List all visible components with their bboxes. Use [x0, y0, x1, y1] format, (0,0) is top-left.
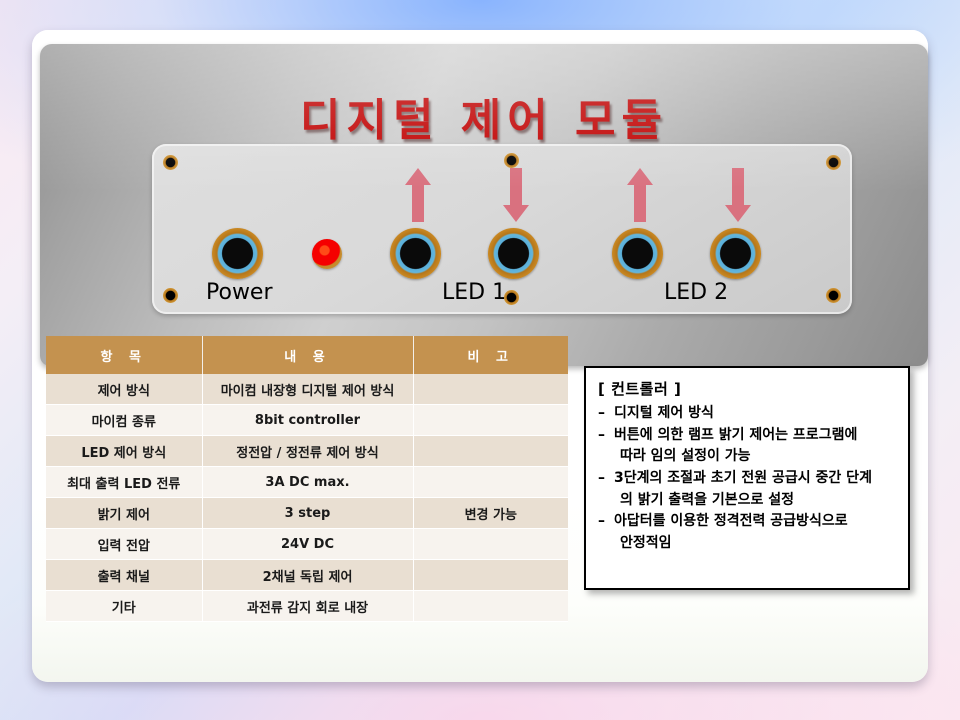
table-header-remark: 비 고 — [413, 336, 568, 374]
led2-label: LED 2 — [664, 280, 728, 305]
note-box-title: [ 컨트롤러 ] — [598, 378, 896, 399]
table-header-item: 항 목 — [46, 336, 202, 374]
note-list-item: – 아답터를 이용한 정격전력 공급방식으로 안정적임 — [598, 511, 896, 554]
cell-item: 제어 방식 — [46, 374, 202, 405]
spec-table: 항 목 내 용 비 고 제어 방식 마이컴 내장형 디지털 제어 방식 마이컴 … — [46, 336, 568, 622]
table-row: 밝기 제어 3 step 변경 가능 — [46, 498, 568, 529]
cell-content: 과전류 감지 회로 내장 — [202, 591, 413, 622]
table-row: 제어 방식 마이컴 내장형 디지털 제어 방식 — [46, 374, 568, 405]
screw-bottom-right — [826, 288, 841, 303]
note-list-item: – 버튼에 의한 램프 밝기 제어는 프로그램에 따라 임의 설정이 가능 — [598, 425, 896, 468]
led1-up-knob[interactable] — [390, 228, 441, 279]
dash-bullet: – — [598, 403, 614, 425]
cell-item: 기타 — [46, 591, 202, 622]
slide-backdrop: 디지털 제어 모듈 — [0, 0, 960, 720]
cell-remark — [413, 374, 568, 405]
note-line-1: 디지털 제어 방식 — [614, 405, 714, 421]
screw-bottom-center — [504, 290, 519, 305]
cell-content: 8bit controller — [202, 405, 413, 436]
cell-item: 밝기 제어 — [46, 498, 202, 529]
note-line-2: 따라 임의 설정이 가능 — [614, 446, 896, 468]
slide-card: 디지털 제어 모듈 — [32, 30, 928, 682]
note-line-1: 버튼에 의한 램프 밝기 제어는 프로그램에 — [614, 427, 857, 443]
cell-content: 마이컴 내장형 디지털 제어 방식 — [202, 374, 413, 405]
table-row: 최대 출력 LED 전류 3A DC max. — [46, 467, 568, 498]
table-header-content: 내 용 — [202, 336, 413, 374]
cell-item: 출력 채널 — [46, 560, 202, 591]
cell-content: 정전압 / 정전류 제어 방식 — [202, 436, 413, 467]
cell-item: LED 제어 방식 — [46, 436, 202, 467]
dash-bullet: – — [598, 468, 614, 511]
cell-item: 입력 전압 — [46, 529, 202, 560]
note-line-2: 의 밝기 출력을 기본으로 설정 — [614, 490, 896, 512]
cell-remark — [413, 467, 568, 498]
led2-up-knob[interactable] — [612, 228, 663, 279]
note-item-text: 버튼에 의한 램프 밝기 제어는 프로그램에 따라 임의 설정이 가능 — [614, 425, 896, 468]
screw-top-right — [826, 155, 841, 170]
table-row: LED 제어 방식 정전압 / 정전류 제어 방식 — [46, 436, 568, 467]
screw-top-left — [163, 155, 178, 170]
note-line-2: 안정적임 — [614, 533, 896, 555]
arrow-down-icon-led1 — [502, 168, 530, 222]
page-title: 디지털 제어 모듈 — [40, 84, 928, 148]
module-enclosure: 디지털 제어 모듈 — [40, 44, 928, 366]
note-item-text: 3단계의 조절과 초기 전원 공급시 중간 단계 의 밝기 출력을 기본으로 설… — [614, 468, 896, 511]
led2-down-knob[interactable] — [710, 228, 761, 279]
table-row: 마이컴 종류 8bit controller — [46, 405, 568, 436]
cell-remark — [413, 405, 568, 436]
power-indicator-led — [312, 239, 342, 269]
arrow-up-icon-led1 — [404, 168, 432, 222]
note-list-item: – 디지털 제어 방식 — [598, 403, 896, 425]
controller-note-box: [ 컨트롤러 ] – 디지털 제어 방식 – 버튼에 의한 램프 밝기 제어는 … — [584, 366, 910, 590]
device-face-plate: Power LED 1 LED 2 — [152, 144, 852, 314]
note-line-1: 3단계의 조절과 초기 전원 공급시 중간 단계 — [614, 470, 872, 486]
cell-remark — [413, 560, 568, 591]
cell-remark: 변경 가능 — [413, 498, 568, 529]
cell-content: 2채널 독립 제어 — [202, 560, 413, 591]
dash-bullet: – — [598, 511, 614, 554]
table-header-row: 항 목 내 용 비 고 — [46, 336, 568, 374]
note-item-text: 아답터를 이용한 정격전력 공급방식으로 안정적임 — [614, 511, 896, 554]
cell-item: 마이컴 종류 — [46, 405, 202, 436]
cell-content: 3A DC max. — [202, 467, 413, 498]
arrow-up-icon-led2 — [626, 168, 654, 222]
cell-remark — [413, 591, 568, 622]
note-item-text: 디지털 제어 방식 — [614, 403, 896, 425]
arrow-down-icon-led2 — [724, 168, 752, 222]
cell-content: 24V DC — [202, 529, 413, 560]
cell-content: 3 step — [202, 498, 413, 529]
cell-remark — [413, 436, 568, 467]
cell-item: 최대 출력 LED 전류 — [46, 467, 202, 498]
led1-down-knob[interactable] — [488, 228, 539, 279]
table-row: 입력 전압 24V DC — [46, 529, 568, 560]
note-line-1: 아답터를 이용한 정격전력 공급방식으로 — [614, 513, 848, 529]
led1-label: LED 1 — [442, 280, 506, 305]
table-row: 기타 과전류 감지 회로 내장 — [46, 591, 568, 622]
note-list-item: – 3단계의 조절과 초기 전원 공급시 중간 단계 의 밝기 출력을 기본으로… — [598, 468, 896, 511]
table-row: 출력 채널 2채널 독립 제어 — [46, 560, 568, 591]
cell-remark — [413, 529, 568, 560]
dash-bullet: – — [598, 425, 614, 468]
power-knob[interactable] — [212, 228, 263, 279]
screw-bottom-left — [163, 288, 178, 303]
screw-top-center — [504, 153, 519, 168]
power-label: Power — [206, 280, 273, 305]
